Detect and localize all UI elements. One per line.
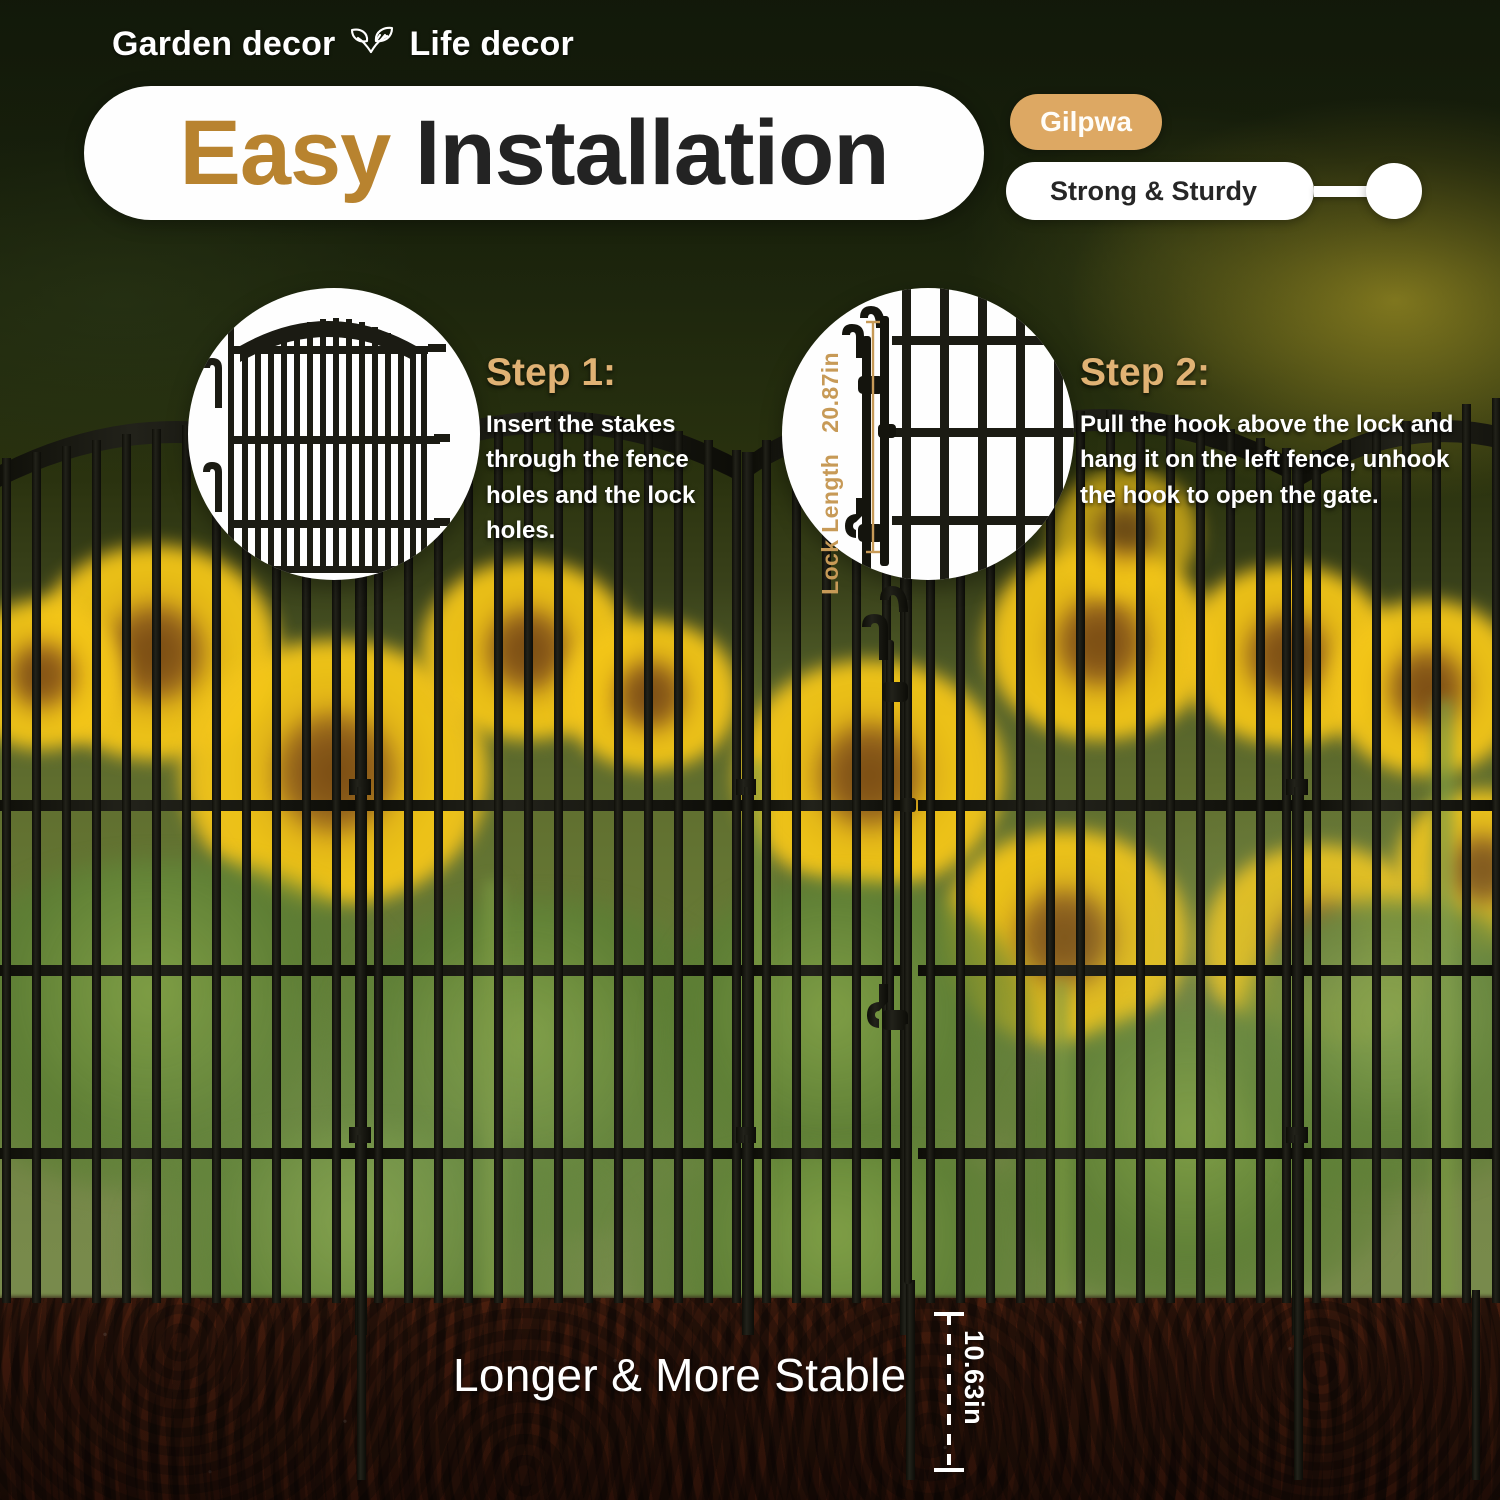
headline-main-word: Installation xyxy=(415,102,889,204)
brand-name-text: Gilpwa xyxy=(1040,106,1132,138)
feature-badge-connector xyxy=(1314,186,1370,197)
lock-length-title: Lock Length xyxy=(817,454,843,595)
feature-badge-dot xyxy=(1366,163,1422,219)
feature-badge-text: Strong & Sturdy xyxy=(1050,176,1257,207)
plant-stalk xyxy=(745,760,769,1300)
lock-length-dimension-line xyxy=(866,318,880,556)
headline-banner: Easy Installation xyxy=(84,86,984,220)
sunflower-blob xyxy=(735,660,1005,890)
step-1-text-block: Step 1: Insert the stakes through the fe… xyxy=(486,352,748,549)
brand-tagline: Garden decor Life decor xyxy=(112,24,574,65)
feature-badge: Strong & Sturdy xyxy=(1006,162,1422,220)
brand-badge: Gilpwa xyxy=(1010,94,1162,150)
step-2-body: Pull the hook above the lock and hang it… xyxy=(1080,407,1472,514)
plant-stalk xyxy=(1050,980,1072,1310)
step-2-title: Step 2: xyxy=(1080,352,1472,395)
step-1-title: Step 1: xyxy=(486,352,748,395)
lock-length-bracket-icon xyxy=(866,318,880,556)
lock-length-label: Lock Length 20.87in xyxy=(816,352,846,595)
step-1-illustration-circle xyxy=(188,288,480,580)
product-infographic: Garden decor Life decor Easy Installatio… xyxy=(0,0,1500,1500)
plant-stalk xyxy=(1430,700,1458,1300)
page-title: Easy Installation xyxy=(179,107,888,199)
step-2-text-block: Step 2: Pull the hook above the lock and… xyxy=(1080,352,1472,513)
lock-length-value: 20.87in xyxy=(817,352,843,433)
headline-accent-word: Easy xyxy=(179,102,390,204)
stability-caption: Longer & More Stable xyxy=(453,1348,907,1402)
tagline-left-text: Garden decor xyxy=(112,25,335,64)
buried-depth-label: 10.63in xyxy=(958,1330,989,1425)
sunflower-blob xyxy=(560,620,740,770)
feature-badge-pill: Strong & Sturdy xyxy=(1006,162,1314,220)
background-photo-sunflower-field xyxy=(0,0,1500,1500)
tagline-right-text: Life decor xyxy=(409,25,573,64)
arched-gate-panel-icon xyxy=(188,288,480,580)
plant-stalk xyxy=(480,880,506,1310)
foliage-blob xyxy=(1240,900,1500,1190)
leaf-sprig-icon xyxy=(349,24,395,65)
step-1-body: Insert the stakes through the fence hole… xyxy=(486,407,748,549)
